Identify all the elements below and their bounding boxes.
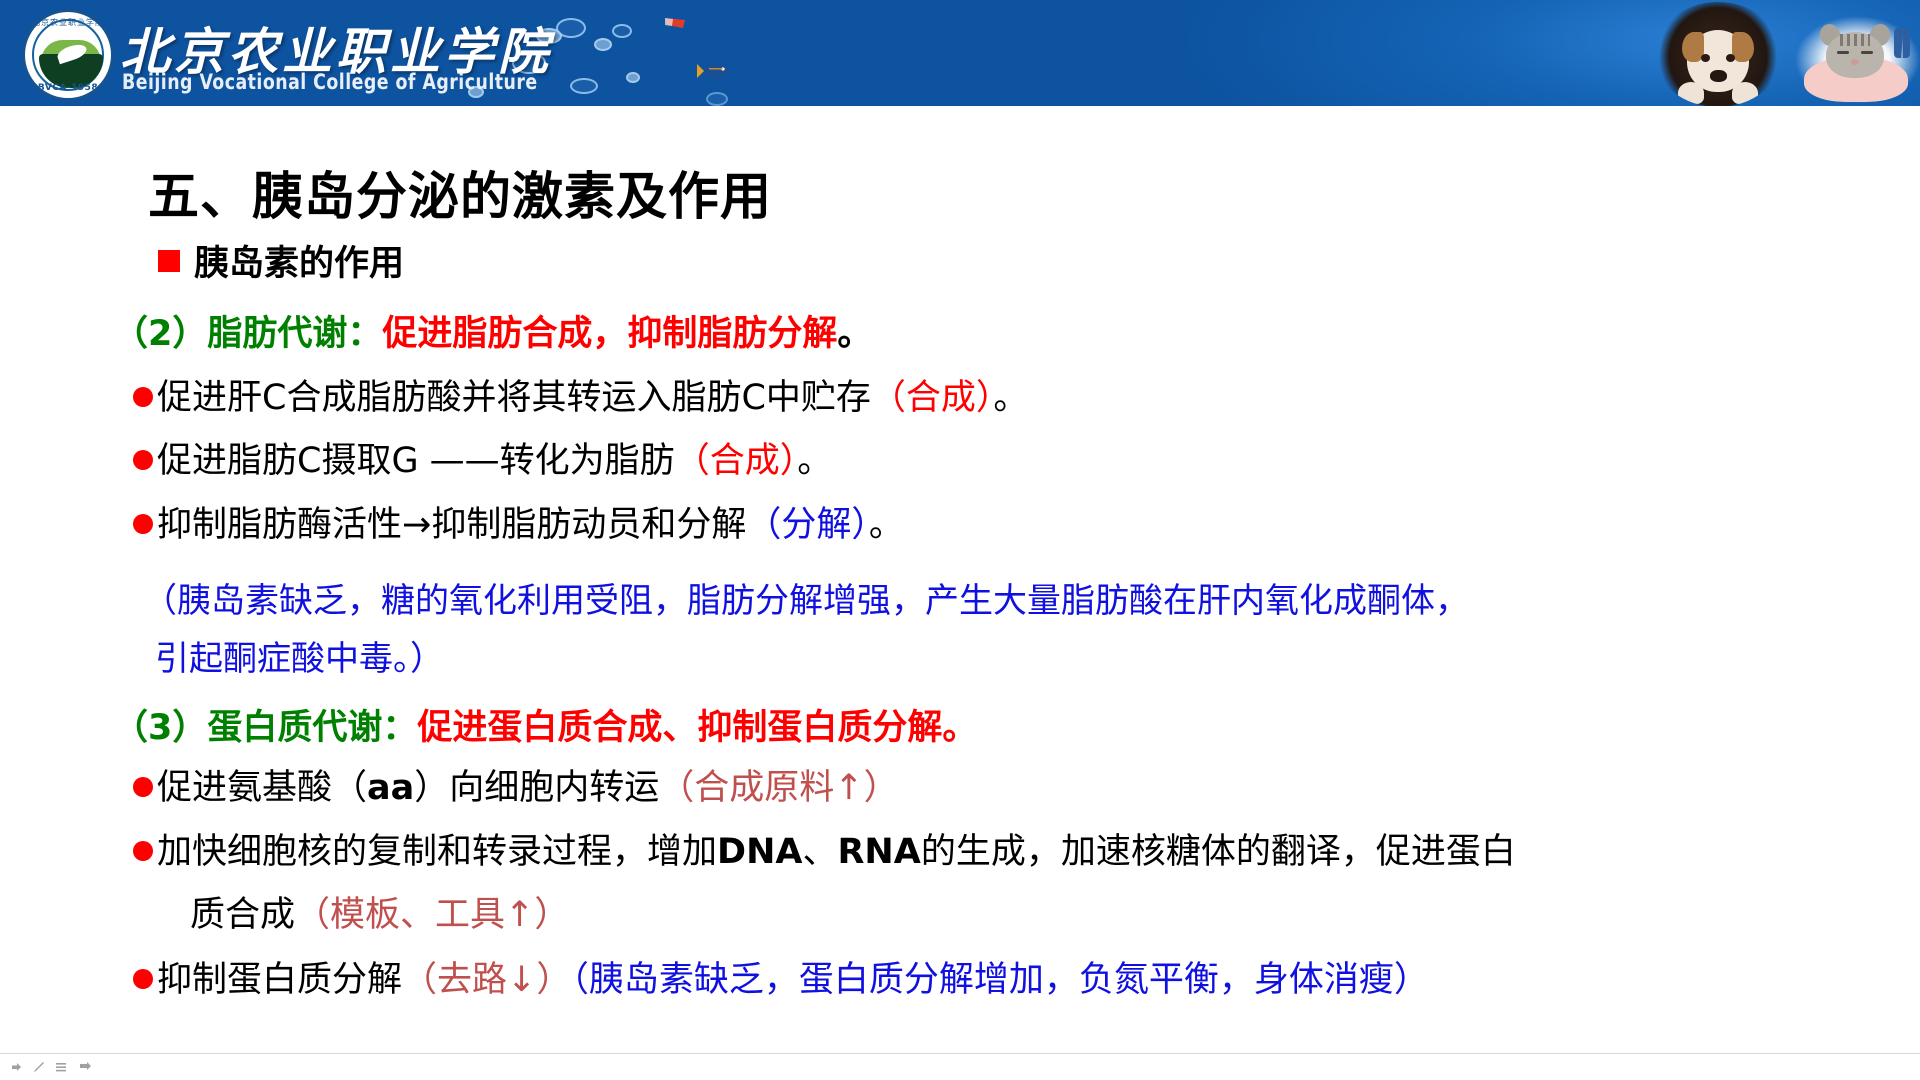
bullet-protein-2-rna: RNA <box>837 832 920 872</box>
cat-eye-right <box>1861 51 1873 54</box>
bullet-protein-3-text: 抑制蛋白质分解 <box>157 960 402 1000</box>
dog-eye-left <box>1701 54 1710 62</box>
dog-eye-right <box>1726 54 1735 62</box>
bullet-protein-2-seg2: 、 <box>802 832 837 872</box>
bullet-fat-1-period: 。 <box>993 378 1028 418</box>
section-2-summary: 促进脂肪合成，抑制脂肪分解 <box>382 314 837 354</box>
slideshow-statusbar <box>0 1053 1920 1080</box>
round-bullet-icon <box>133 841 153 861</box>
dog-photo <box>1654 2 1782 107</box>
fat-note-line-2: 引起酮症酸中毒。） <box>155 631 444 680</box>
section-2-heading: （2）脂肪代谢：促进脂肪合成，抑制脂肪分解。 <box>113 317 872 352</box>
college-name-english: Beijing Vocational College of Agricultur… <box>122 70 538 94</box>
cat-comb-icon <box>1894 28 1910 58</box>
subtitle-row: 胰岛素的作用 <box>158 235 404 286</box>
bullet-protein-1-text-b: ）向细胞内转运 <box>414 768 659 808</box>
dog-nose <box>1710 70 1727 82</box>
cat-stripes <box>1840 34 1870 46</box>
flag-icon <box>665 18 685 34</box>
bullet-fat-2-text: 促进脂肪C摄取G ——转化为脂肪 <box>157 441 675 481</box>
subtitle-text: 胰岛素的作用 <box>194 235 404 286</box>
college-seal-logo: 北京农业职业学院 BVCA-1958 <box>22 9 114 101</box>
seal-bottom-text: BVCA-1958 <box>25 83 111 93</box>
banner-divider <box>0 106 1920 111</box>
bullet-protein-1: 促进氨基酸（aa）向细胞内转运（合成原料↑） <box>133 771 899 806</box>
bullet-fat-3-tag: （分解） <box>746 505 869 545</box>
bullet-fat-2-tag: （合成） <box>675 441 798 481</box>
section-3-summary: 促进蛋白质合成、抑制蛋白质分解。 <box>417 708 977 748</box>
bullet-protein-3-tag: （去路↓） <box>402 960 571 1000</box>
square-bullet-icon <box>158 250 180 272</box>
bullet-protein-1-text-a: 促进氨基酸（ <box>157 768 367 808</box>
round-bullet-icon <box>133 387 153 407</box>
bubble-icon <box>612 24 632 38</box>
fat-note-line-1: （胰岛素缺乏，糖的氧化利用受阻，脂肪分解增强，产生大量脂肪酸在肝内氧化成酮体， <box>143 573 1469 622</box>
section-3-label: （3）蛋白质代谢： <box>113 708 417 748</box>
bullet-fat-1-tag: （合成） <box>871 378 994 418</box>
bullet-protein-1-tag: （合成原料↑） <box>659 768 898 808</box>
bullet-fat-2: 促进脂肪C摄取G ——转化为脂肪（合成）。 <box>133 444 832 479</box>
fish-icon <box>697 62 731 80</box>
pen-icon[interactable] <box>32 1060 46 1074</box>
bullet-fat-3-text: 抑制脂肪酶活性→抑制脂肪动员和分解 <box>157 505 746 545</box>
bubble-icon <box>626 72 640 83</box>
bullet-fat-1-text: 促进肝C合成脂肪酸并将其转运入脂肪C中贮存 <box>157 378 871 418</box>
bullet-protein-1-aa: aa <box>367 768 414 808</box>
bullet-protein-2-tag: （模板、工具↑） <box>295 895 569 935</box>
bullet-fat-1: 促进肝C合成脂肪酸并将其转运入脂肪C中贮存（合成）。 <box>133 381 1028 416</box>
bubble-icon <box>556 18 586 38</box>
cat-eye-left <box>1837 51 1849 54</box>
presentation-slide: 北京农业职业学院 BVCA-1958 北京农业职业学院 Beijing Voca… <box>0 0 1920 1080</box>
section-2-label: （2）脂肪代谢： <box>113 314 382 354</box>
bubble-icon <box>706 92 728 106</box>
bullet-protein-2-seg3: 的生成，加速核糖体的翻译，促进蛋白 <box>921 832 1516 872</box>
next-icon[interactable] <box>78 1060 92 1074</box>
bubble-icon <box>594 38 612 51</box>
seal-top-text: 北京农业职业学院 <box>25 17 111 28</box>
page-title: 五、胰岛分泌的激素及作用 <box>148 155 772 229</box>
dog-ear-right <box>1732 32 1754 62</box>
round-bullet-icon <box>133 514 153 534</box>
bullet-protein-3: 抑制蛋白质分解（去路↓）（胰岛素缺乏，蛋白质分解增加，负氮平衡，身体消瘦） <box>133 963 1429 998</box>
section-2-period: 。 <box>837 314 872 354</box>
cat-photo <box>1790 2 1920 107</box>
bullet-protein-2-dna: DNA <box>717 832 802 872</box>
list-icon[interactable] <box>54 1060 68 1074</box>
header-banner: 北京农业职业学院 BVCA-1958 北京农业职业学院 Beijing Voca… <box>0 0 1920 111</box>
round-bullet-icon <box>133 450 153 470</box>
round-bullet-icon <box>133 777 153 797</box>
round-bullet-icon <box>133 969 153 989</box>
bullet-fat-3-period: 。 <box>869 505 904 545</box>
bullet-protein-2-cont-text: 质合成 <box>190 895 295 935</box>
bullet-fat-2-period: 。 <box>797 441 832 481</box>
bullet-fat-3: 抑制脂肪酶活性→抑制脂肪动员和分解（分解）。 <box>133 508 904 543</box>
bubble-icon <box>570 78 598 94</box>
section-3-heading: （3）蛋白质代谢：促进蛋白质合成、抑制蛋白质分解。 <box>113 711 977 746</box>
bullet-protein-3-note: （胰岛素缺乏，蛋白质分解增加，负氮平衡，身体消瘦） <box>571 960 1429 1000</box>
bullet-protein-2-continuation: 质合成（模板、工具↑） <box>190 898 569 933</box>
undo-icon[interactable] <box>10 1060 24 1074</box>
bullet-protein-2: 加快细胞核的复制和转录过程，增加DNA、RNA的生成，加速核糖体的翻译，促进蛋白 <box>133 835 1516 870</box>
cat-nose <box>1851 59 1859 65</box>
bullet-protein-2-seg1: 加快细胞核的复制和转录过程，增加 <box>157 832 717 872</box>
